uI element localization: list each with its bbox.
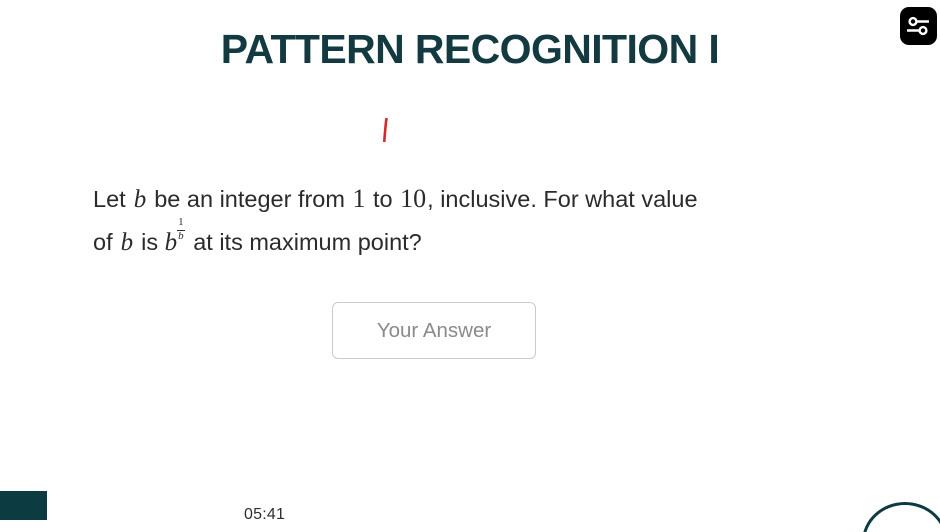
fraction-denominator: b xyxy=(177,231,185,243)
question-l1-part4: , inclusive. For what value xyxy=(427,186,697,212)
question-line-1: Let b be an integer from 1 to 10, inclus… xyxy=(93,178,793,221)
red-pen-annotation xyxy=(381,118,389,142)
question-l1-number-1: 1 xyxy=(351,184,366,213)
question-l1-number-10: 10 xyxy=(399,184,427,213)
settings-button[interactable] xyxy=(900,7,937,45)
quiz-screen: PATTERN RECOGNITION I Let b be an intege… xyxy=(0,0,940,520)
bottom-left-panel xyxy=(0,491,47,520)
question-text: Let b be an integer from 1 to 10, inclus… xyxy=(93,178,793,264)
pen-stroke-icon xyxy=(381,118,389,142)
question-l1-part2: be an integer from xyxy=(148,186,352,212)
arc-shape xyxy=(862,502,940,532)
question-l1-part3: to xyxy=(366,186,399,212)
question-l2-power-expression: b1b xyxy=(165,221,187,264)
question-l1-part1: Let xyxy=(93,186,132,212)
question-l2-part1: of xyxy=(93,229,119,255)
sliders-icon xyxy=(907,16,929,37)
page-title: PATTERN RECOGNITION I xyxy=(0,26,940,73)
answer-input[interactable] xyxy=(332,302,536,359)
question-line-2: of b is b1b at its maximum point? xyxy=(93,221,793,264)
power-base: b xyxy=(165,229,178,256)
fraction-numerator: 1 xyxy=(177,217,185,229)
timer-display: 05:41 xyxy=(244,506,285,524)
bottom-right-arc[interactable] xyxy=(862,502,940,532)
question-l2-part2: is xyxy=(135,229,165,255)
question-l2-variable-b: b xyxy=(119,229,135,256)
question-l2-part3: at its maximum point? xyxy=(187,229,422,255)
power-exponent-fraction: 1b xyxy=(177,217,185,242)
question-l1-variable-b: b xyxy=(132,186,148,213)
